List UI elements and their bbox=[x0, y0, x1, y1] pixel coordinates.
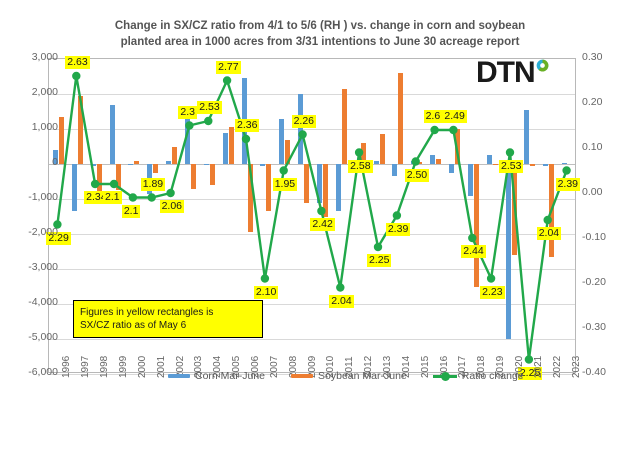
dtn-logo-text: DTN bbox=[476, 58, 535, 88]
x-axis-tick-2021: 2021 bbox=[533, 356, 544, 378]
ratio-point-2022 bbox=[544, 216, 552, 224]
chart-legend: Corn Mar-June Soybean Mar-June Ratio cha… bbox=[168, 370, 524, 382]
y-axis-right-tick: -0.10 bbox=[582, 231, 634, 243]
x-axis-tick-2000: 2000 bbox=[137, 356, 148, 378]
ratio-point-1998 bbox=[91, 180, 99, 188]
y-axis-right-tick: 0.20 bbox=[582, 96, 634, 108]
y-axis-right-tick: -0.20 bbox=[582, 276, 634, 288]
ratio-point-1997 bbox=[72, 72, 80, 80]
x-axis-tick-1997: 1997 bbox=[80, 356, 91, 378]
ratio-point-2017 bbox=[449, 126, 457, 134]
y-axis-left-tick: -3,000 bbox=[12, 261, 58, 273]
x-axis-tick-2023: 2023 bbox=[571, 356, 582, 378]
ratio-point-label-2017: 2.49 bbox=[442, 110, 466, 123]
dtn-logo: DTN bbox=[476, 58, 549, 88]
ratio-point-2000 bbox=[129, 193, 137, 201]
x-axis-tick-2022: 2022 bbox=[552, 356, 563, 378]
ratio-point-2016 bbox=[430, 126, 438, 134]
ratio-point-label-2020: 2.53 bbox=[499, 160, 523, 173]
annotation-line-2: SX/CZ ratio as of May 6 bbox=[80, 319, 256, 332]
ratio-point-label-2010: 2.42 bbox=[310, 218, 334, 231]
ratio-point-2013 bbox=[374, 243, 382, 251]
y-axis-left-tick: -1,000 bbox=[12, 191, 58, 203]
ratio-point-2021 bbox=[525, 355, 533, 363]
x-axis-tick-1999: 1999 bbox=[118, 356, 129, 378]
soybean-swatch-icon bbox=[291, 374, 313, 378]
legend-label-ratio: Ratio change bbox=[462, 370, 524, 382]
ratio-point-label-2003: 2.3 bbox=[178, 106, 197, 119]
ratio-point-2001 bbox=[148, 193, 156, 201]
y-axis-right-tick: 0.00 bbox=[582, 186, 634, 198]
ratio-point-2002 bbox=[166, 189, 174, 197]
ratio-point-2008 bbox=[280, 166, 288, 174]
ratio-point-label-2011: 2.04 bbox=[329, 295, 353, 308]
y-axis-left-tick: -5,000 bbox=[12, 331, 58, 343]
ratio-point-2010 bbox=[317, 207, 325, 215]
ratio-point-1999 bbox=[110, 180, 118, 188]
y-axis-right-tick: -0.40 bbox=[582, 366, 634, 378]
ratio-point-label-2014: 2.39 bbox=[386, 223, 410, 236]
ratio-point-2007 bbox=[261, 274, 269, 282]
ratio-point-label-2016: 2.6 bbox=[424, 110, 443, 123]
chart-title-line-2: planted area in 1000 acres from 3/31 int… bbox=[40, 34, 600, 50]
annotation-box: Figures in yellow rectangles is SX/CZ ra… bbox=[73, 300, 263, 338]
ratio-point-label-2007: 2.10 bbox=[254, 286, 278, 299]
ratio-line-swatch-icon bbox=[433, 375, 457, 378]
legend-label-soybean: Soybean Mar-June bbox=[318, 370, 407, 382]
legend-item-corn[interactable]: Corn Mar-June bbox=[168, 370, 265, 382]
ratio-point-2004 bbox=[204, 117, 212, 125]
annotation-line-1: Figures in yellow rectangles is bbox=[80, 306, 256, 319]
x-axis-tick-2001: 2001 bbox=[156, 356, 167, 378]
ratio-point-2005 bbox=[223, 76, 231, 84]
corn-swatch-icon bbox=[168, 374, 190, 378]
x-axis-tick-1996: 1996 bbox=[61, 356, 72, 378]
ratio-point-label-2004: 2.53 bbox=[197, 101, 221, 114]
ratio-point-label-2018: 2.44 bbox=[461, 245, 485, 258]
ratio-point-2003 bbox=[185, 121, 193, 129]
ratio-point-label-1997: 2.63 bbox=[65, 56, 89, 69]
ratio-point-label-2023: 2.39 bbox=[556, 178, 580, 191]
ratio-point-2012 bbox=[355, 148, 363, 156]
y-axis-left-tick: -4,000 bbox=[12, 296, 58, 308]
y-axis-left-tick: 3,000 bbox=[12, 51, 58, 63]
ratio-point-2023 bbox=[562, 166, 570, 174]
ratio-point-2019 bbox=[487, 274, 495, 282]
ratio-point-2015 bbox=[412, 157, 420, 165]
ratio-point-label-2002: 2.06 bbox=[160, 200, 184, 213]
legend-item-ratio[interactable]: Ratio change bbox=[433, 370, 524, 382]
ratio-point-2006 bbox=[242, 135, 250, 143]
x-axis-tick-1998: 1998 bbox=[99, 356, 110, 378]
y-axis-right-tick: 0.30 bbox=[582, 51, 634, 63]
ratio-point-label-2005: 2.77 bbox=[216, 61, 240, 74]
y-axis-left-tick: 0 bbox=[12, 156, 58, 168]
dtn-logo-mark-icon bbox=[536, 59, 549, 72]
y-axis-left-tick: 2,000 bbox=[12, 86, 58, 98]
ratio-point-label-2012: 2.58 bbox=[348, 160, 372, 173]
chart-title: Change in SX/CZ ratio from 4/1 to 5/6 (R… bbox=[40, 18, 600, 50]
y-axis-right-tick: -0.30 bbox=[582, 321, 634, 333]
ratio-point-2009 bbox=[298, 130, 306, 138]
ratio-point-label-2000: 2.1 bbox=[122, 205, 141, 218]
y-axis-left-tick: 1,000 bbox=[12, 121, 58, 133]
legend-label-corn: Corn Mar-June bbox=[195, 370, 265, 382]
chart-container: Change in SX/CZ ratio from 4/1 to 5/6 (R… bbox=[0, 0, 640, 460]
legend-item-soybean[interactable]: Soybean Mar-June bbox=[291, 370, 407, 382]
ratio-point-label-2009: 2.26 bbox=[292, 115, 316, 128]
y-axis-left-tick: -6,000 bbox=[12, 366, 58, 378]
ratio-point-2018 bbox=[468, 234, 476, 242]
ratio-point-label-2019: 2.23 bbox=[480, 286, 504, 299]
ratio-point-label-2001: 1.89 bbox=[141, 178, 165, 191]
y-axis-right-tick: 0.10 bbox=[582, 141, 634, 153]
ratio-point-label-2006: 2.36 bbox=[235, 119, 259, 132]
ratio-point-label-2013: 2.25 bbox=[367, 254, 391, 267]
ratio-point-label-2015: 2.50 bbox=[405, 169, 429, 182]
ratio-point-2011 bbox=[336, 283, 344, 291]
y-axis-left-tick: -2,000 bbox=[12, 226, 58, 238]
ratio-point-label-2008: 1.95 bbox=[273, 178, 297, 191]
ratio-point-2020 bbox=[506, 148, 514, 156]
ratio-point-label-1999: 2.1 bbox=[103, 191, 122, 204]
chart-title-line-1: Change in SX/CZ ratio from 4/1 to 5/6 (R… bbox=[40, 18, 600, 34]
ratio-point-2014 bbox=[393, 211, 401, 219]
ratio-point-label-2022: 2.04 bbox=[537, 227, 561, 240]
